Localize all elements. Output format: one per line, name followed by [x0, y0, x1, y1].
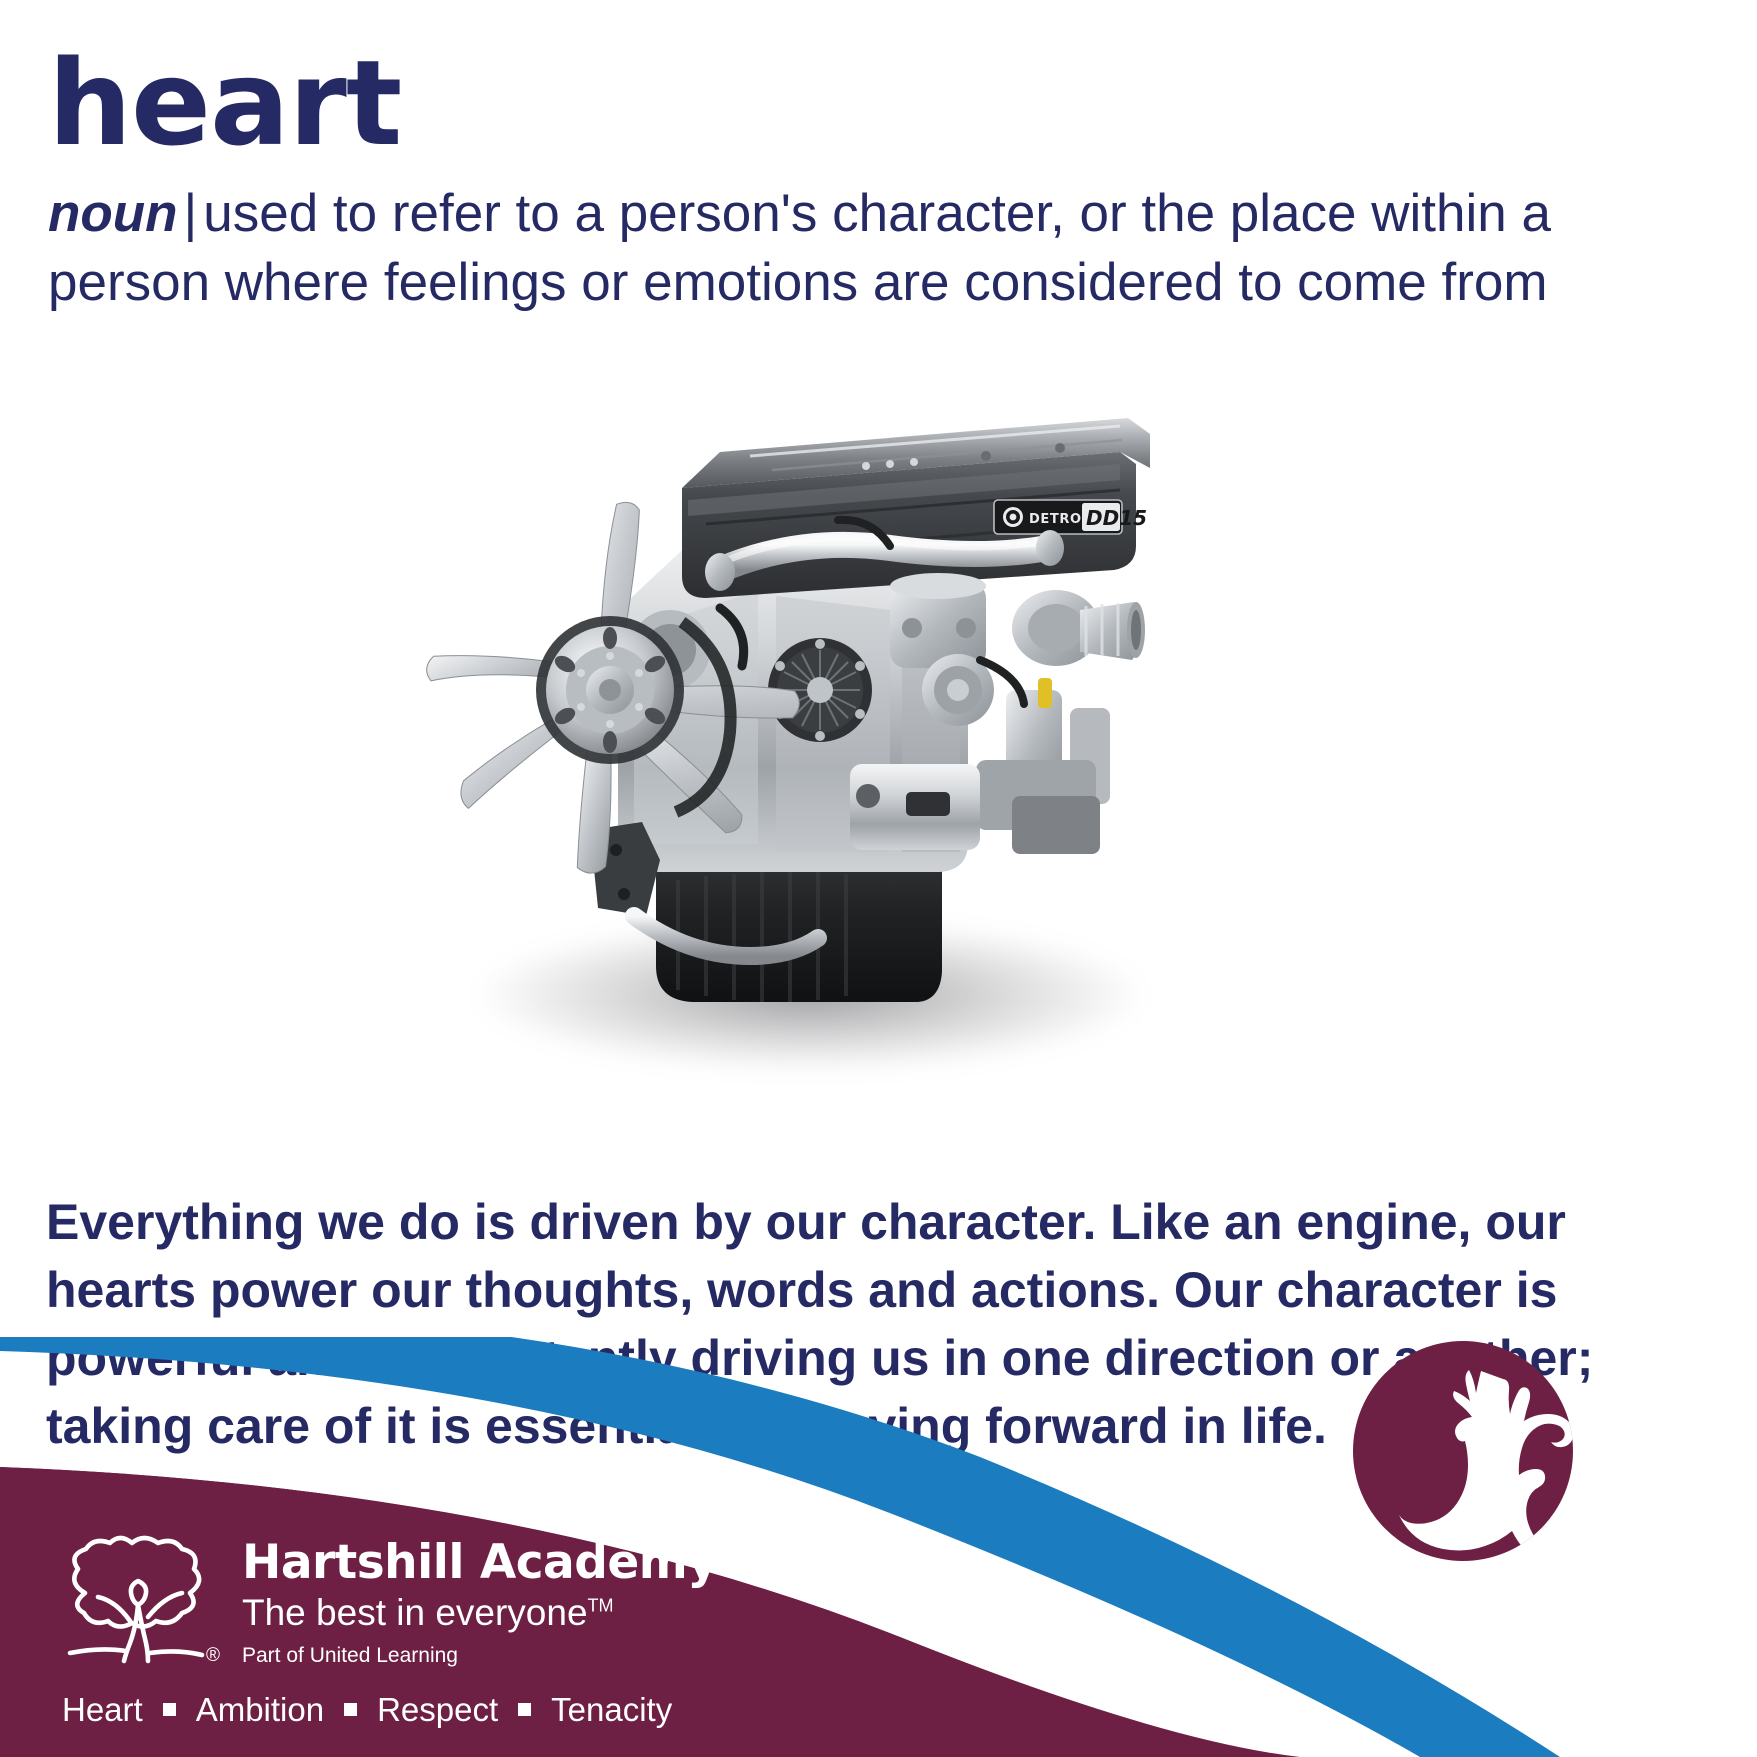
registered-mark: ® — [206, 1645, 220, 1666]
trademark-mark: TM — [588, 1596, 614, 1616]
value-tenacity: Tenacity — [549, 1693, 674, 1726]
word-block: heart noun|used to refer to a person's c… — [48, 44, 1708, 318]
part-of-united-learning: Part of United Learning — [242, 1644, 717, 1667]
engine-illustration: DETROIT DD15 — [420, 360, 1160, 1060]
deer-icon — [1353, 1341, 1573, 1561]
value-respect: Respect — [375, 1693, 500, 1726]
value-separator-dot — [518, 1703, 531, 1716]
strapline-text: The best in everyone — [242, 1592, 588, 1633]
engine-badge: DETROIT DD15 — [994, 500, 1147, 534]
page-title: heart — [48, 44, 1708, 162]
school-values-strip: Heart Ambition Respect Tenacity — [60, 1693, 674, 1726]
school-strapline: The best in everyoneTM — [242, 1592, 717, 1635]
value-heart: Heart — [60, 1693, 145, 1726]
school-name: Hartshill Academy — [242, 1539, 717, 1586]
value-ambition: Ambition — [194, 1693, 326, 1726]
value-separator-dot — [344, 1703, 357, 1716]
deer-roundel-logo — [1353, 1341, 1573, 1561]
school-logo-lockup: ® Hartshill Academy The best in everyone… — [60, 1535, 717, 1667]
tree-logo-icon: ® — [60, 1535, 220, 1667]
definition-body: used to refer to a person's character, o… — [48, 184, 1551, 312]
lockup-text: Hartshill Academy The best in everyoneTM… — [242, 1535, 717, 1667]
svg-text:DD15: DD15 — [1086, 506, 1147, 530]
definition-separator: | — [178, 184, 204, 243]
definition-text: noun|used to refer to a person's charact… — [48, 180, 1678, 318]
part-of-speech: noun — [48, 184, 178, 243]
engine-image: DETROIT DD15 — [420, 360, 1160, 1060]
value-separator-dot — [163, 1703, 176, 1716]
poster-canvas: heart noun|used to refer to a person's c… — [0, 0, 1757, 1757]
